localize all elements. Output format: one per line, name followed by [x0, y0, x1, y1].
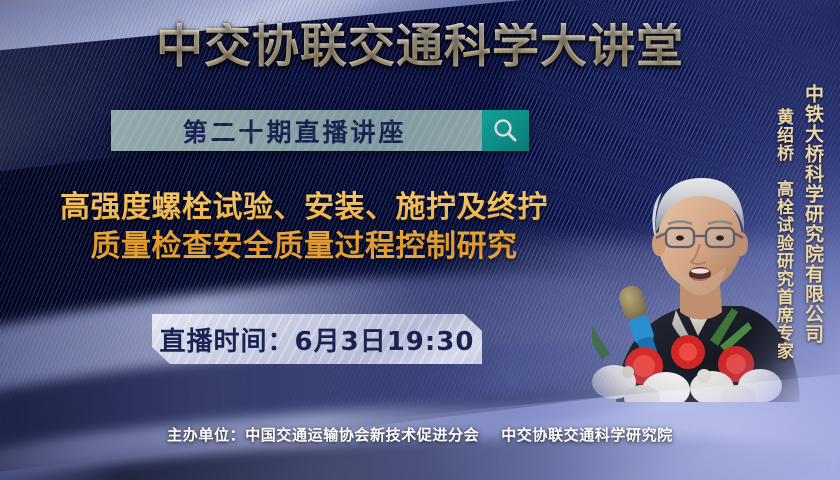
speaker-organization: 中铁大桥科学研究院有限公司	[800, 84, 827, 344]
episode-label: 第二十期直播讲座	[111, 110, 482, 151]
lecture-topic-line-1: 高强度螺栓试验、安装、施拧及终拧	[4, 188, 604, 227]
footer-organizer-1: 中国交通运输协会新技术促进分会	[245, 426, 479, 444]
broadcast-time-badge: 直播时间：6月3日19:30	[152, 314, 482, 364]
footer-organizer-2: 中交协联交通科学研究院	[501, 426, 673, 444]
search-icon[interactable]	[482, 110, 529, 151]
broadcast-time-label: 直播时间：6月3日19:30	[160, 321, 475, 358]
footer-prefix: 主办单位：	[167, 426, 245, 444]
speaker-name-title: 黄绍桥 高栓试验研究首席专家	[771, 108, 796, 360]
lecture-topic: 高强度螺栓试验、安装、施拧及终拧 质量检查安全质量过程控制研究	[4, 188, 604, 266]
footer-organizers: 主办单位：中国交通运输协会新技术促进分会中交协联交通科学研究院	[0, 424, 840, 445]
lecture-topic-line-2: 质量检查安全质量过程控制研究	[4, 227, 604, 266]
live-stream-poster: 中交协联交通科学大讲堂 第二十期直播讲座 高强度螺栓试验、安装、施拧及终拧 质量…	[0, 0, 840, 480]
page-title: 中交协联交通科学大讲堂	[0, 23, 840, 70]
episode-banner: 第二十期直播讲座	[111, 110, 529, 151]
